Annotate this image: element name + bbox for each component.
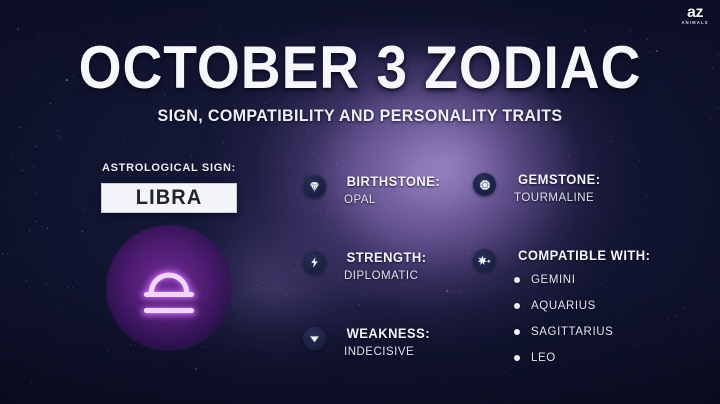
attributes-middle-column: BIRTHSTONE: OPAL STRENGTH: DIPLOMATIC WE… [303, 174, 473, 358]
spacer [303, 282, 473, 326]
attribute-strength: STRENGTH: DIPLOMATIC [303, 250, 473, 282]
attribute-label: BIRTHSTONE: [347, 174, 471, 189]
attribute-value: DIPLOMATIC [344, 270, 473, 282]
triangle-down-icon [303, 327, 326, 350]
libra-glyph-icon [106, 225, 232, 351]
list-item: LEO [514, 352, 713, 364]
faceted-gem-icon [473, 173, 496, 196]
compatible-signs-list: GEMINIAQUARIUSSAGITTARIUSLEO [514, 274, 713, 364]
infographic-canvas: az ANIMALS OCTOBER 3 ZODIAC SIGN, COMPAT… [0, 0, 720, 404]
list-item: AQUARIUS [514, 300, 713, 312]
attribute-birthstone: BIRTHSTONE: OPAL [303, 174, 473, 206]
attribute-gemstone: GEMSTONE: TOURMALINE [473, 172, 713, 204]
spacer [473, 204, 713, 248]
attribute-label: COMPATIBLE WITH: [518, 248, 709, 263]
page-title: OCTOBER 3 ZODIAC [29, 38, 691, 98]
diamond-gem-icon [303, 175, 326, 198]
attribute-label: GEMSTONE: [518, 172, 709, 187]
sparkle-star-icon [473, 249, 496, 272]
astrological-sign-box: LIBRA [101, 183, 237, 213]
spacer [303, 206, 473, 250]
attribute-weakness: WEAKNESS: INDECISIVE [303, 326, 473, 358]
top-shadow-band [0, 0, 720, 28]
astrological-sign-panel: ASTROLOGICAL SIGN: LIBRA [0, 162, 338, 351]
lightning-bolt-icon [303, 251, 326, 274]
astrological-sign-label: ASTROLOGICAL SIGN: [0, 162, 338, 174]
attribute-value: TOURMALINE [514, 192, 713, 204]
list-item: GEMINI [514, 274, 713, 286]
zodiac-glyph-badge [106, 225, 232, 351]
list-item: SAGITTARIUS [514, 326, 713, 338]
attribute-label: STRENGTH: [347, 250, 471, 265]
attributes-right-column: GEMSTONE: TOURMALINE COMPATIBLE WITH: GE… [473, 172, 713, 364]
attribute-value: OPAL [344, 194, 473, 206]
watermark-wordmark: az [678, 5, 712, 20]
attribute-label: WEAKNESS: [347, 326, 471, 341]
page-subtitle: SIGN, COMPATIBILITY AND PERSONALITY TRAI… [11, 107, 709, 126]
header-block: OCTOBER 3 ZODIAC SIGN, COMPATIBILITY AND… [0, 38, 720, 126]
astrological-sign-value: LIBRA [136, 186, 203, 210]
attribute-compatible-with: COMPATIBLE WITH: GEMINIAQUARIUSSAGITTARI… [473, 248, 713, 364]
az-animals-watermark: az ANIMALS [678, 5, 712, 26]
watermark-subtext: ANIMALS [678, 20, 712, 26]
attribute-value: INDECISIVE [344, 346, 473, 358]
